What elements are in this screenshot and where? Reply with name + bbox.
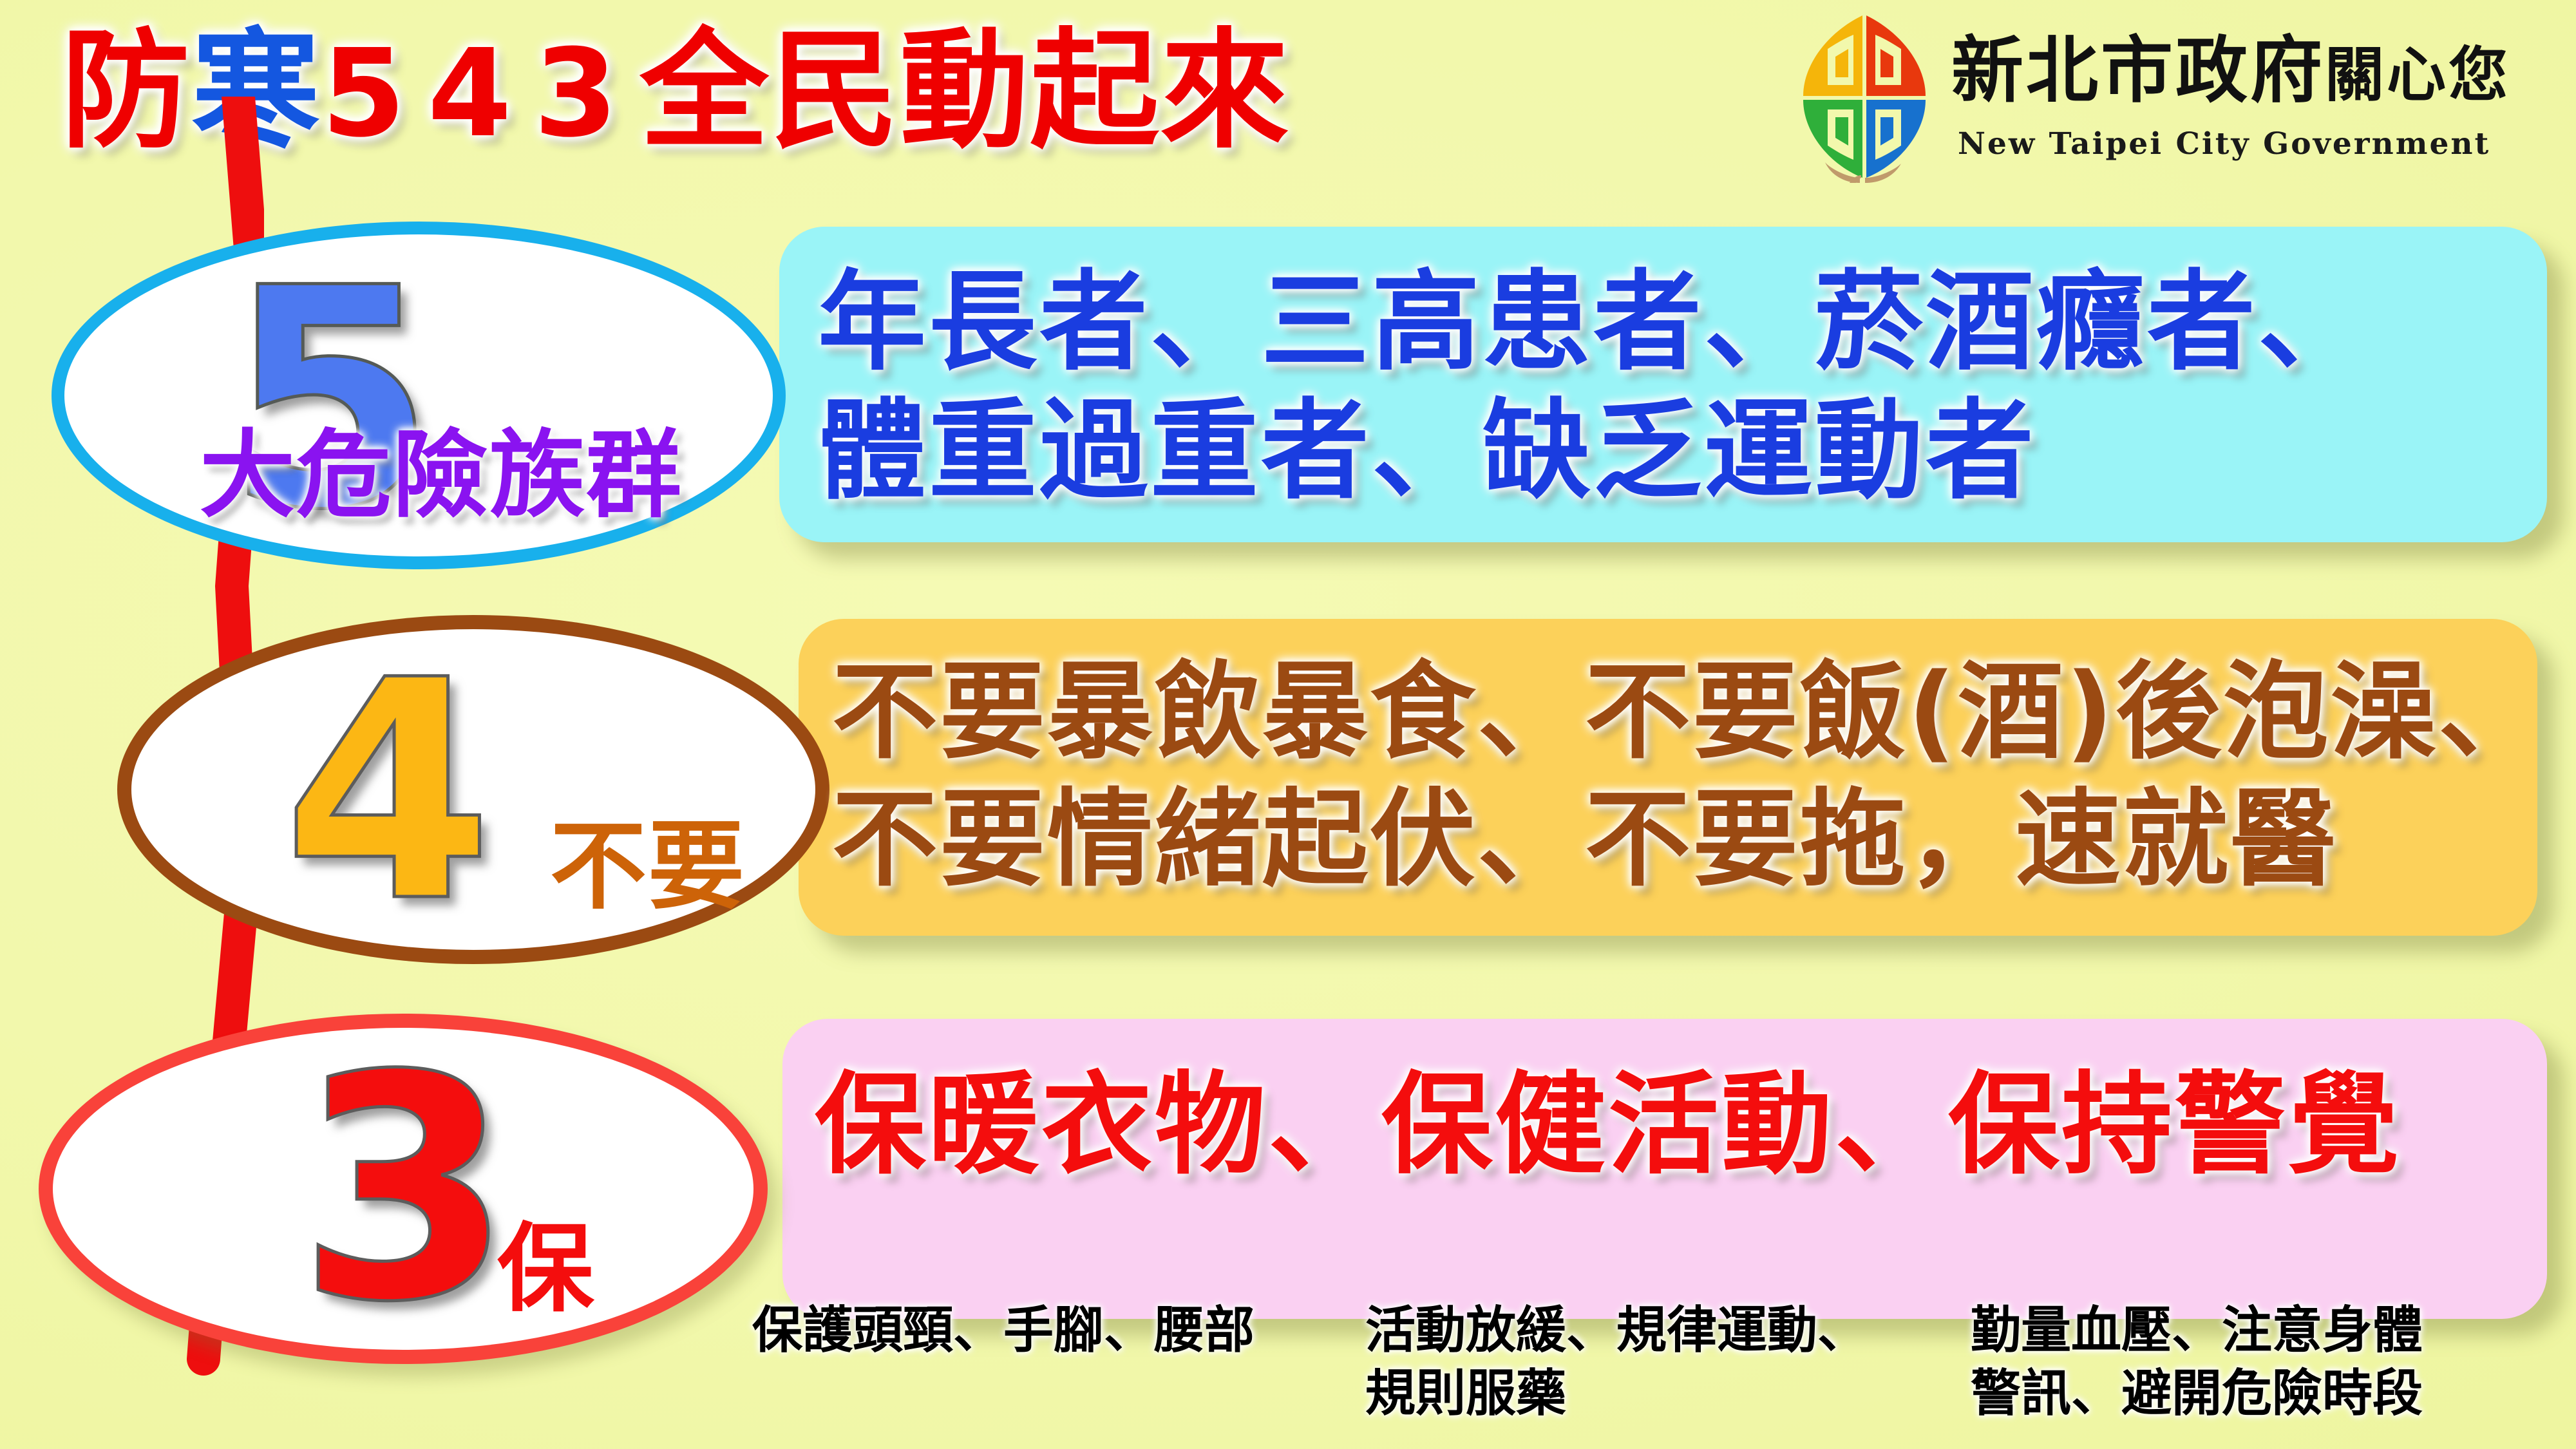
section-5-line-2: 體重過重者、缺乏運動者 [818, 386, 2369, 515]
logo-name-zh: 新北市政府 [1951, 28, 2325, 113]
caption-1-line-1: 保護頭頸、手腳、腰部 [752, 1299, 1319, 1362]
section-5-row: 年長者、三高患者、菸酒癮者、 體重過重者、缺乏運動者 5 大危險族群 [0, 213, 2576, 554]
caption-item: 保護頭頸、手腳、腰部 [752, 1299, 1319, 1362]
poster-header: 防寒543全民動起來 [0, 0, 2576, 193]
title-part-fang: 防 [61, 16, 191, 166]
poster-canvas: 防寒543全民動起來 [0, 0, 2576, 1449]
section-5-line-1: 年長者、三高患者、菸酒癮者、 [818, 258, 2369, 386]
caption-2-line-2: 規則服藥 [1365, 1362, 1945, 1425]
title-part-slogan: 全民動起來 [639, 16, 1290, 166]
caption-3-line-2: 警訊、避開危險時段 [1971, 1362, 2550, 1425]
section-3-line-1: 保暖衣物、保健活動、保持警覺 [815, 1064, 2401, 1186]
caption-2-line-1: 活動放緩、規律運動、 [1365, 1299, 1945, 1362]
new-taipei-city-government-logo: 新北市政府關心您 New Taipei City Government [1776, 6, 2568, 187]
logo-chinese-name: 新北市政府關心您 [1951, 32, 2510, 113]
section-4-sublabel: 不要 [550, 819, 746, 915]
leaf-quadrant-logo-icon [1784, 9, 1945, 183]
section-5-band-text: 年長者、三高患者、菸酒癮者、 體重過重者、缺乏運動者 [818, 258, 2369, 515]
title-part-han: 寒 [191, 16, 321, 166]
section-4-row: 不要暴飲暴食、不要飯(酒)後泡澡、 不要情緒起伏、不要拖，速就醫 4 不要 [0, 609, 2576, 950]
title-part-543: 543 [321, 23, 639, 164]
caption-item: 勤量血壓、注意身體 警訊、避開危險時段 [1971, 1299, 2550, 1425]
caption-item: 活動放緩、規律運動、 規則服藥 [1365, 1299, 1945, 1425]
section-3-band-text: 保暖衣物、保健活動、保持警覺 [815, 1064, 2401, 1186]
logo-english-name: New Taipei City Government [1958, 126, 2490, 162]
section-4-line-2: 不要情緒起伏、不要拖，速就醫 [832, 776, 2546, 904]
bottom-captions: 保護頭頸、手腳、腰部 活動放緩、規律運動、 規則服藥 勤量血壓、注意身體 警訊、… [0, 1298, 2576, 1449]
section-4-band-text: 不要暴飲暴食、不要飯(酒)後泡澡、 不要情緒起伏、不要拖，速就醫 [832, 649, 2546, 904]
logo-suffix-zh: 關心您 [2325, 40, 2510, 109]
section-4-numeral: 4 [283, 641, 493, 943]
page-title: 防寒543全民動起來 [61, 5, 1290, 180]
section-4-line-1: 不要暴飲暴食、不要飯(酒)後泡澡、 [832, 649, 2546, 776]
section-5-sublabel: 大危險族群 [200, 428, 683, 523]
section-5-ellipse: 5 大危險族群 [52, 222, 786, 569]
caption-3-line-1: 勤量血壓、注意身體 [1971, 1299, 2550, 1362]
section-4-ellipse: 4 不要 [117, 615, 829, 964]
